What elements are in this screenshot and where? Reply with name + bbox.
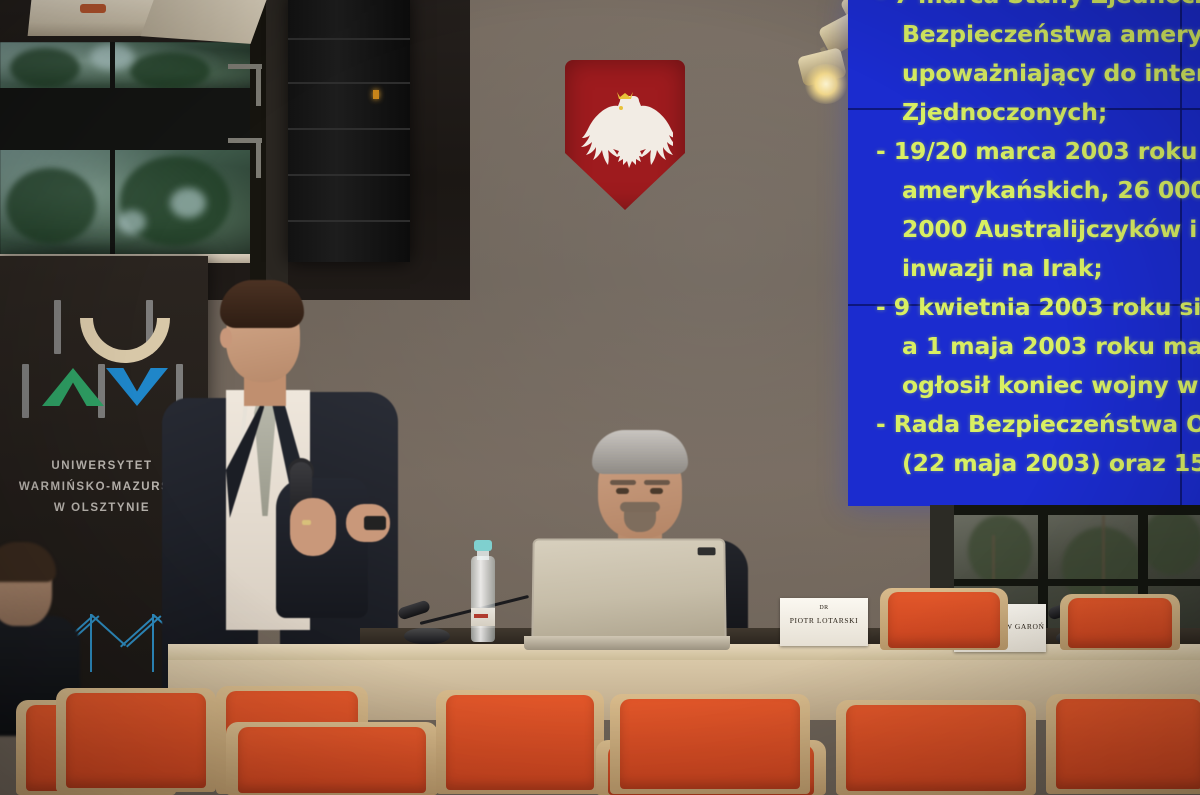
presenter-hand xyxy=(290,498,336,556)
speaker-status-led-icon xyxy=(373,90,379,99)
mounting-bracket xyxy=(256,138,261,178)
chair-behind-desk[interactable] xyxy=(880,588,1008,650)
slide-line: - 7 marca Stany Zjednocz xyxy=(876,0,1200,15)
slide-line: ogłosił koniec wojny w Ir xyxy=(902,366,1200,405)
nameplate-title: DR xyxy=(780,605,868,611)
slide-line: inwazji na Irak; xyxy=(902,249,1200,288)
sky-patch xyxy=(170,188,206,218)
laptop-badge-icon xyxy=(698,547,716,555)
panelist-moustache xyxy=(620,502,660,512)
projection-screen: - 7 marca Stany ZjednoczBezpieczeństwa a… xyxy=(848,0,1200,506)
white-eagle-icon xyxy=(577,82,673,186)
nameplate-name: PIOTR LOTARSKI xyxy=(780,616,868,625)
slide-line: (22 maja 2003) oraz 1511 xyxy=(902,444,1200,483)
slide-line: Zjednoczonych; xyxy=(902,93,1200,132)
panelist-eyebrow xyxy=(610,480,636,485)
slide-line: upoważniający do interw xyxy=(902,54,1200,93)
window-mullion xyxy=(110,42,115,90)
conference-hall-photo: - 7 marca Stany ZjednoczBezpieczeństwa a… xyxy=(0,0,1200,795)
presenter-ear xyxy=(220,328,232,348)
smoke-detector-icon xyxy=(80,4,106,13)
pattern-segment xyxy=(126,615,162,647)
audience-chair[interactable] xyxy=(226,722,438,795)
line-array-speaker xyxy=(288,0,410,262)
laptop[interactable] xyxy=(531,539,726,645)
nameplate: DR PIOTR LOTARSKI xyxy=(780,598,868,646)
panelist-eye xyxy=(616,488,629,494)
water-bottle[interactable] xyxy=(471,556,495,642)
pattern-segment xyxy=(90,614,92,672)
water-bottle-label-accent xyxy=(474,614,488,618)
presenter-hair xyxy=(220,280,304,328)
window-lower-left xyxy=(0,148,252,258)
window-upper-left xyxy=(0,42,252,90)
desk-microphone-base xyxy=(404,628,450,644)
slide-line: - 9 kwietnia 2003 roku siły xyxy=(876,288,1200,327)
slide-line: Bezpieczeństwa ameryk xyxy=(902,15,1200,54)
audience-chair[interactable] xyxy=(56,688,216,792)
foliage-blob xyxy=(6,168,96,244)
water-bottle-cap xyxy=(474,540,492,551)
presentation-clicker[interactable] xyxy=(364,516,386,530)
laptop-base xyxy=(524,636,730,650)
foliage-blob xyxy=(130,52,210,90)
ceiling-panel xyxy=(141,0,270,44)
logo-chevron-green xyxy=(42,368,104,406)
audience-chair[interactable] xyxy=(1046,694,1200,794)
slide-text-block: - 7 marca Stany ZjednoczBezpieczeństwa a… xyxy=(876,0,1200,483)
wedding-ring-icon xyxy=(302,520,311,525)
university-logo xyxy=(24,290,184,440)
slide-line: - Rada Bezpieczeństwa ON xyxy=(876,405,1200,444)
sky-patch xyxy=(118,210,146,234)
foliage-blob xyxy=(10,48,80,88)
panelist-hair xyxy=(592,430,688,474)
logo-chevron-blue xyxy=(106,368,168,406)
audience-chair[interactable] xyxy=(610,694,810,794)
pattern-segment xyxy=(152,614,154,672)
mounting-bracket xyxy=(256,64,261,106)
logo-bar xyxy=(98,364,105,418)
logo-arc xyxy=(80,318,170,363)
spotlight-glow xyxy=(804,64,848,104)
audience-chair[interactable] xyxy=(836,700,1036,795)
panelist-eye xyxy=(650,488,663,494)
slide-line: a 1 maja 2003 roku maja xyxy=(902,327,1200,366)
wall-pillar xyxy=(266,0,288,300)
pattern-segment xyxy=(120,615,156,647)
logo-bar xyxy=(54,300,61,354)
slide-line: - 19/20 marca 2003 roku xyxy=(876,132,1200,171)
chair-behind-desk[interactable] xyxy=(1060,594,1180,650)
logo-bar xyxy=(22,364,29,418)
panelist-eyebrow xyxy=(644,480,670,485)
audience-hair xyxy=(0,542,56,582)
window-mullion xyxy=(110,148,115,258)
slide-line: amerykańskich, 26 000 b xyxy=(902,171,1200,210)
slide-line: 2000 Australijczyków i 1 xyxy=(902,210,1200,249)
window-transom xyxy=(0,88,252,150)
polish-coat-of-arms xyxy=(565,60,685,220)
audience-chair[interactable] xyxy=(436,690,604,794)
pattern-segment xyxy=(91,614,127,646)
